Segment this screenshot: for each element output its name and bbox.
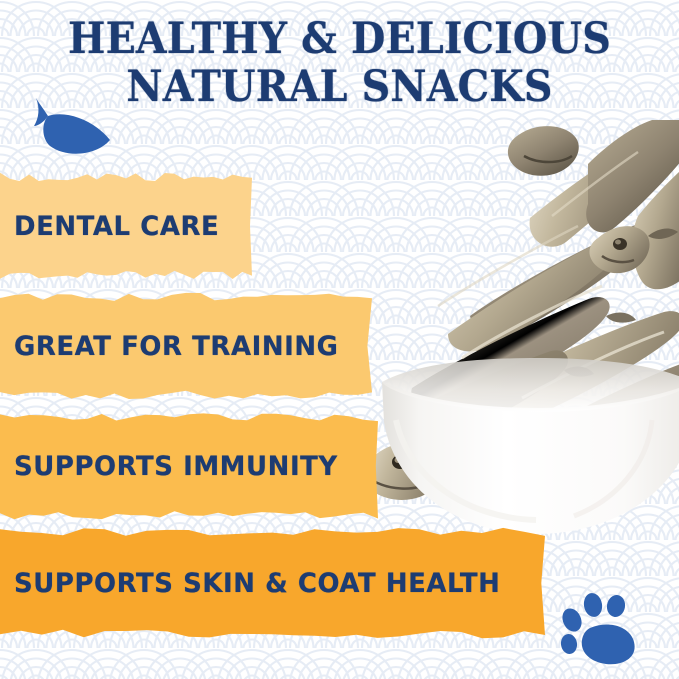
- benefit-banner: DENTAL CARE: [0, 172, 252, 280]
- benefit-banner: SUPPORTS IMMUNITY: [0, 412, 378, 520]
- fish-icon: [22, 96, 114, 164]
- benefit-label: SUPPORTS SKIN & COAT HEALTH: [14, 568, 500, 599]
- bowl-of-dried-fish-photo: [352, 120, 679, 540]
- product-benefits-infographic: HEALTHY & DELICIOUS NATURAL SNACKS: [0, 0, 679, 679]
- page-title: HEALTHY & DELICIOUS NATURAL SNACKS: [0, 18, 679, 108]
- benefit-label: GREAT FOR TRAINING: [14, 331, 338, 362]
- paw-print-icon: [560, 592, 642, 666]
- headline-line-1: HEALTHY & DELICIOUS: [27, 18, 652, 60]
- benefit-label: SUPPORTS IMMUNITY: [14, 451, 338, 482]
- benefit-banner: SUPPORTS SKIN & COAT HEALTH: [0, 527, 545, 639]
- headline-line-2: NATURAL SNACKS: [27, 66, 652, 108]
- benefit-banner: GREAT FOR TRAINING: [0, 292, 372, 400]
- benefit-label: DENTAL CARE: [14, 211, 219, 242]
